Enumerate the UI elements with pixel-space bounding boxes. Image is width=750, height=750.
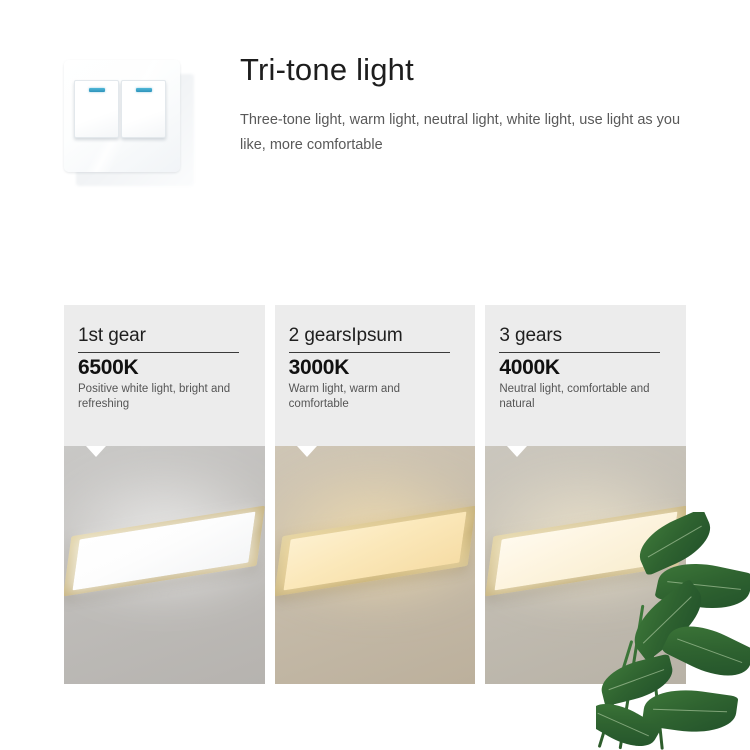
panel-kelvin-value: 3000K xyxy=(289,356,462,380)
caption-divider xyxy=(499,352,660,353)
caption-pointer-icon xyxy=(297,446,317,457)
panel-photo xyxy=(64,446,265,684)
panel-kelvin-value: 4000K xyxy=(499,356,672,380)
panel-note: Warm light, warm and comfortable xyxy=(289,382,462,412)
switch-rocker-right xyxy=(121,80,166,138)
page-title: Tri-tone light xyxy=(240,52,414,88)
panel-gear-label: 2 gearsIpsum xyxy=(289,325,462,347)
panel-gear-label: 3 gears xyxy=(499,325,672,347)
switch-rocker-group xyxy=(74,80,166,138)
product-marketing-image: Tri-tone light Three-tone light, warm li… xyxy=(0,0,750,750)
caption-pointer-icon xyxy=(507,446,527,457)
panel-caption: 1st gear 6500K Positive white light, bri… xyxy=(64,305,265,446)
panel-note: Positive white light, bright and refresh… xyxy=(78,382,251,412)
panel-caption: 3 gears 4000K Neutral light, comfortable… xyxy=(485,305,686,446)
panel-2-gears: 2 gearsIpsum 3000K Warm light, warm and … xyxy=(275,305,476,684)
color-temperature-panels: 1st gear 6500K Positive white light, bri… xyxy=(64,305,686,684)
panel-photo xyxy=(275,446,476,684)
panel-gear-label: 1st gear xyxy=(78,325,251,347)
panel-1st-gear: 1st gear 6500K Positive white light, bri… xyxy=(64,305,265,684)
led-indicator-icon xyxy=(136,88,152,92)
plant-leaf xyxy=(642,684,739,738)
wall-switch-icon xyxy=(62,58,196,186)
hero-description: Three-tone light, warm light, neutral li… xyxy=(240,108,690,158)
panel-3-gears: 3 gears 4000K Neutral light, comfortable… xyxy=(485,305,686,684)
caption-divider xyxy=(289,352,450,353)
switch-rocker-left xyxy=(74,80,119,138)
hero-section: Tri-tone light Three-tone light, warm li… xyxy=(0,0,750,290)
panel-photo xyxy=(485,446,686,684)
panel-note: Neutral light, comfortable and natural xyxy=(499,382,672,412)
panel-kelvin-value: 6500K xyxy=(78,356,251,380)
caption-pointer-icon xyxy=(86,446,106,457)
caption-divider xyxy=(78,352,239,353)
led-indicator-icon xyxy=(89,88,105,92)
plant-leaf xyxy=(596,693,662,750)
panel-caption: 2 gearsIpsum 3000K Warm light, warm and … xyxy=(275,305,476,446)
